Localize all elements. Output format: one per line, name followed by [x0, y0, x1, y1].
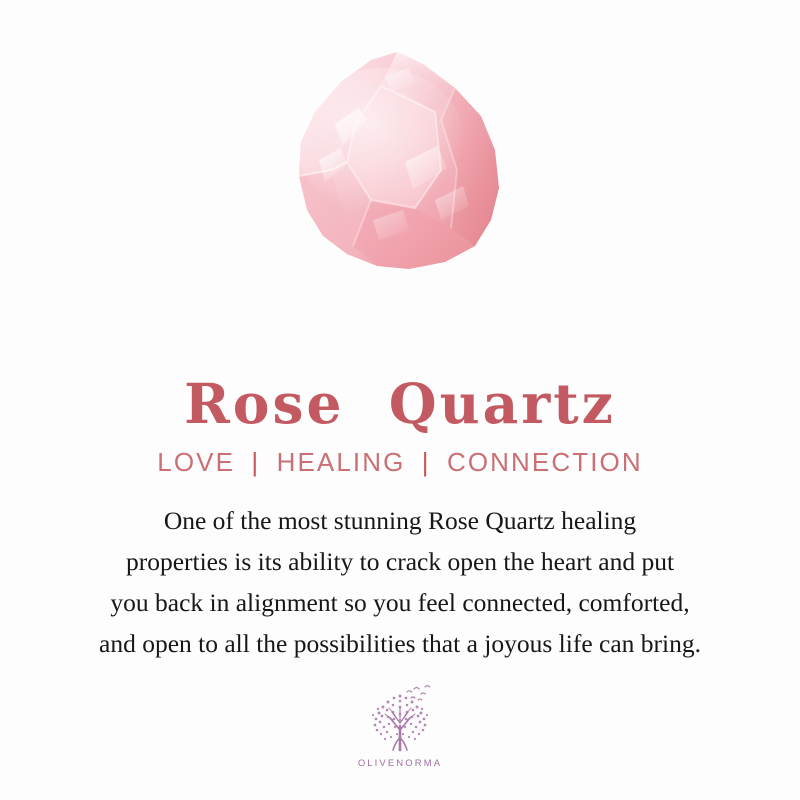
tree-of-life-with-birds-icon: [357, 682, 443, 756]
keyword-tagline: LOVE | HEALING | CONNECTION: [0, 446, 800, 478]
description-line: and open to all the possibilities that a…: [28, 623, 772, 664]
crystal-image-container: [0, 50, 800, 290]
brand-wordmark: OLIVENORMA: [0, 758, 800, 769]
keyword-healing: HEALING: [277, 447, 406, 477]
description-line: you back in alignment so you feel connec…: [28, 582, 772, 623]
keyword-separator-2: |: [415, 447, 438, 477]
keyword-connection: CONNECTION: [447, 447, 643, 477]
brand-logo: OLIVENORMA: [0, 682, 800, 769]
description-line: properties is its ability to crack open …: [28, 541, 772, 582]
page-title: Rose Quartz: [0, 373, 800, 435]
rose-quartz-crystal-icon: [285, 50, 515, 278]
description-line: One of the most stunning Rose Quartz hea…: [28, 500, 772, 541]
poster-canvas: Rose Quartz LOVE | HEALING | CONNECTION …: [0, 0, 800, 800]
keyword-separator-1: |: [244, 447, 267, 477]
keyword-love: LOVE: [157, 447, 235, 477]
description-text: One of the most stunning Rose Quartz hea…: [28, 500, 772, 664]
birds-icon: [407, 686, 430, 700]
tree-trunk-and-branches: [385, 708, 415, 750]
crystal-inner-glow: [297, 68, 465, 216]
